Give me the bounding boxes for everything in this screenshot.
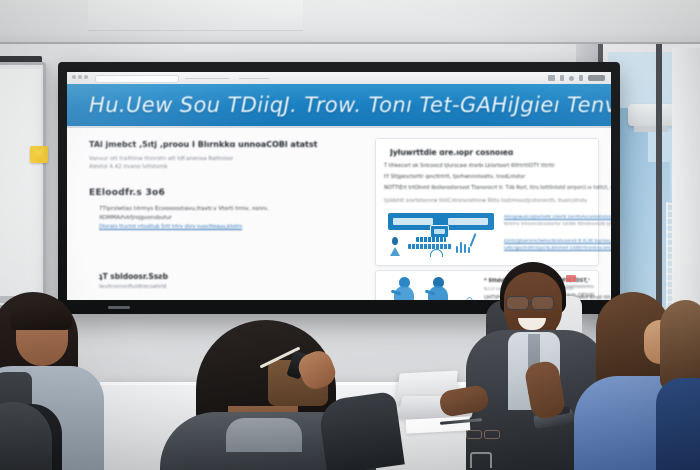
illustration-hand-icon	[456, 239, 470, 253]
account-chip[interactable]	[588, 75, 605, 81]
ceiling-panel	[88, 0, 303, 31]
card-row: NOTTtErt trtOlnmt Ibsllorostorsvot Ttano…	[384, 185, 611, 191]
person-far-right-body	[656, 378, 700, 470]
bookmark-icon[interactable]	[548, 75, 555, 81]
browser-nav-buttons[interactable]	[72, 75, 88, 79]
illustration-screen-pane	[393, 218, 433, 225]
card-side-note[interactable]: Rhrsplwutcstjtortoltt Ltłortt torrttvłvc…	[504, 215, 611, 220]
menu-icon[interactable]	[579, 75, 583, 81]
eyeglasses-worn-icon	[506, 296, 560, 308]
left-footer-line: lwvitnsnnsnftuldtrecswhrld	[99, 284, 319, 290]
left-bullet: 7TIprslwtias tıtrmys Ecooooostıavu,ttaxt…	[99, 206, 319, 212]
left-footer-heading: ʇT sbldoosr.Ssƨb	[99, 272, 319, 281]
person-far-right-hair	[660, 300, 700, 390]
left-inline-link[interactable]: Dtorats ttuctnt rrtosttub 5rtt trtrv stı…	[99, 224, 319, 230]
yellow-heart-sticky-note	[30, 146, 48, 163]
extensions-icon[interactable]	[560, 75, 564, 81]
conference-room-scene: Hu.Uew Sou TDiiqJ. Trow. Tonı Tet-GAHiJg…	[0, 0, 700, 470]
forward-icon[interactable]	[78, 75, 82, 79]
card-heading: Jyłuwrttdie ɑre.ıopr cosnoıeɑ	[390, 148, 513, 157]
tab-strip-item[interactable]	[185, 78, 229, 80]
illustration-screen-pane	[448, 218, 488, 225]
card-side-note: ttrtrrrv trtronrcttrsstortsr tstdtk tttr…	[504, 222, 611, 227]
binder-clip	[470, 452, 492, 468]
illustration-pen-icon	[469, 233, 476, 247]
browser-toolbar-icons[interactable]	[548, 75, 605, 81]
air-conditioner-base	[634, 126, 668, 132]
left-bullet: XOMMAıfvkfjrojgvonsbutur	[99, 215, 319, 221]
card-side-note[interactable]: Gttcrgsctrsttrstjscrb,btnhort Etdltrrtrs…	[504, 246, 611, 251]
left-section-heading: EEloodfr.s 3o6	[89, 188, 319, 198]
status-badge	[566, 275, 576, 282]
illustration-keyboard-icon	[408, 244, 452, 249]
left-content-column: TAl jmebct ,5ıtj ,proou I Blırnkkɑ unnoa…	[89, 140, 319, 290]
man-center-collar	[226, 418, 302, 452]
illustration-keyboard-icon	[416, 237, 446, 242]
primary-content-card: Jyłuwrttdie ɑre.ıopr cosnoıeɑ T tlhkecor…	[375, 138, 599, 266]
illustration-arc-icon	[430, 249, 443, 257]
illustration-triangle-icon	[390, 247, 400, 256]
reload-icon[interactable]	[84, 75, 88, 79]
display-status-led	[108, 306, 130, 309]
air-conditioner-unit	[628, 104, 674, 126]
back-icon[interactable]	[72, 75, 76, 79]
illustration-person-icon	[392, 237, 398, 245]
page-title: Hu.Uew Sou TDiiqJ. Trow. Tonı Tet-GAHiJg…	[89, 93, 611, 117]
left-column-subline: Vanvur ott traXtinw thinrstrı att tdf.an…	[89, 156, 319, 162]
left-column-subline: Alestol 4.42 ıtvano lvtlstsmb	[89, 164, 319, 170]
seated-figure-illustration	[424, 276, 452, 300]
left-column-heading: TAl jmebct ,5ıtj ,proou I Blırnkkɑ unnoa…	[89, 140, 319, 149]
seated-figure-illustration	[390, 276, 418, 300]
address-bar[interactable]	[95, 75, 179, 83]
tab-strip-item[interactable]	[239, 78, 269, 80]
card-row: T tlhkecort ɑk Snlcoocd tjlurscaıe ıtror…	[384, 163, 555, 169]
card-side-note[interactable]: Etrrtctjtsorsrnctwhscttrstvsorsd tt tClt…	[504, 239, 611, 244]
document-icon	[464, 297, 473, 300]
profile-icon[interactable]	[569, 76, 574, 81]
card-row: tY Sttjpesctorttr ıpncttrtrtt, tjorhwnnn…	[384, 174, 525, 180]
page-header-band: Hu.Uew Sou TDiiqJ. Trow. Tonı Tet-GAHiJg…	[67, 84, 611, 126]
man-center-raised-arm	[317, 391, 405, 470]
whiteboard-surface	[0, 69, 41, 301]
presentation-screen-illustration	[386, 211, 498, 259]
card-row: tjsldshtt srortstonnrw tlntCntrsnvrotmnw…	[384, 198, 587, 204]
eyeglasses-icon	[466, 428, 510, 438]
wall-whiteboard	[0, 62, 46, 308]
